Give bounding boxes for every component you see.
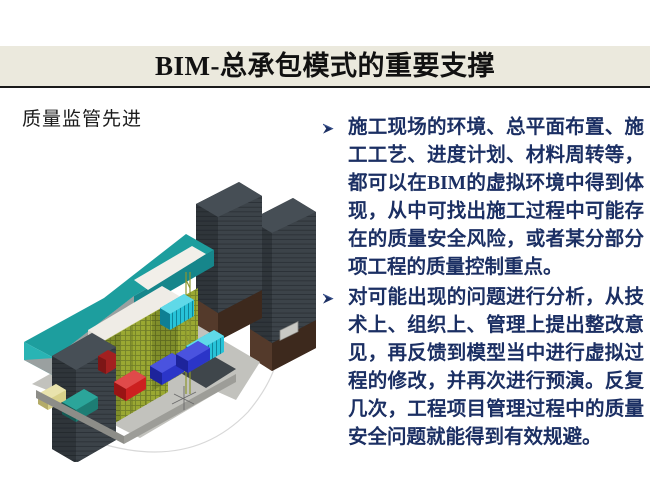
- arrow-bullet-icon: [318, 284, 348, 305]
- subtitle-label: 质量监管先进: [22, 104, 142, 131]
- bullet-item: 施工现场的环境、总平面布置、施工工艺、进度计划、材料周转等，都可以在BIM的虚拟…: [318, 114, 644, 282]
- body-text-block: 施工现场的环境、总平面布置、施工工艺、进度计划、材料周转等，都可以在BIM的虚拟…: [318, 114, 644, 454]
- bullet-text: 施工现场的环境、总平面布置、施工工艺、进度计划、材料周转等，都可以在BIM的虚拟…: [348, 114, 644, 282]
- slide-canvas: BIM-总承包模式的重要支撑 质量监管先进: [0, 0, 650, 487]
- bullet-item: 对可能出现的问题进行分析，从技术上、组织上、管理上提出整改意见，再反馈到模型当中…: [318, 284, 644, 452]
- bim-construction-site-3d-model: [0, 180, 316, 462]
- page-title: BIM-总承包模式的重要支撑: [0, 50, 650, 82]
- bullet-text: 对可能出现的问题进行分析，从技术上、组织上、管理上提出整改意见，再反馈到模型当中…: [348, 284, 644, 452]
- arrow-bullet-icon: [318, 114, 348, 135]
